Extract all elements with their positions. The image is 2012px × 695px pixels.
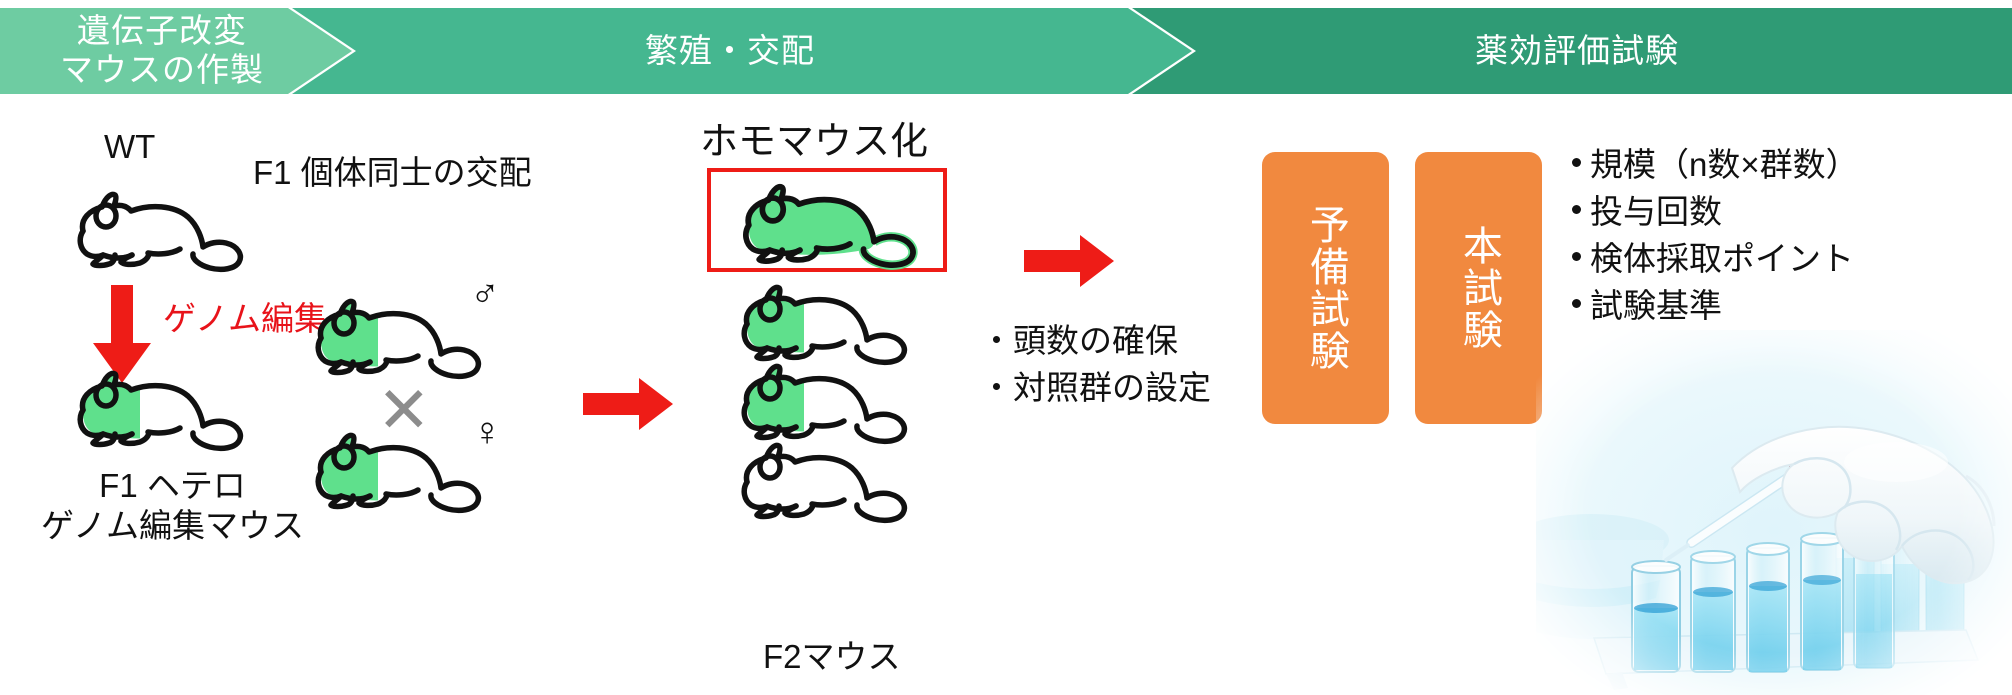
bullet-dot-icon [1572, 205, 1581, 214]
banner-step-1-line2: マウスの作製 [60, 51, 264, 90]
test-criteria-text: 規模（n数×群数） [1590, 142, 1859, 189]
wt-label: WT [104, 128, 155, 166]
breeding-note-item: 頭数の確保 [980, 318, 1211, 365]
breeding-notes-list: 頭数の確保 対照群の設定 [980, 318, 1211, 412]
bullet-dot-icon [1572, 252, 1581, 261]
banner-step-3[interactable]: 薬効評価試験 [1132, 8, 2012, 94]
breeding-note-item: 対照群の設定 [980, 365, 1211, 412]
mouse-f1-female [300, 424, 490, 516]
test-criteria-item: 規模（n数×群数） [1572, 142, 1859, 189]
cross-title: F1 個体同士の交配 [253, 146, 532, 194]
banner-step-1[interactable]: 遺伝子改変 マウスの作製 [0, 8, 352, 94]
right-arrow-red-icon-2 [1024, 235, 1114, 287]
f1-hetero-caption-line2: ゲノム編集マウス [0, 506, 345, 546]
preliminary-test-box[interactable]: 予備試験 [1262, 152, 1389, 424]
main-test-box[interactable]: 本試験 [1415, 152, 1542, 424]
male-symbol-icon: ♂ [470, 274, 500, 314]
bullet-dot-icon [1572, 299, 1581, 308]
banner-step-2[interactable]: 繁殖・交配 [292, 8, 1192, 94]
f1-hetero-caption: F1 ヘテロ ゲノム編集マウス [0, 466, 345, 547]
banner-step-3-label: 薬効評価試験 [1475, 32, 1679, 71]
banner-step-2-label: 繁殖・交配 [645, 32, 815, 71]
main-test-label: 本試験 [1452, 225, 1505, 351]
test-criteria-item: 試験基準 [1572, 283, 1859, 330]
f1-hetero-caption-line1: F1 ヘテロ [0, 466, 345, 506]
test-criteria-item: 投与回数 [1572, 189, 1859, 236]
female-symbol-icon: ♀ [472, 412, 502, 452]
mouse-f2-homozygous [726, 175, 926, 271]
f2-mouse-caption: F2マウス [763, 630, 901, 678]
homo-mouse-title: ホモマウス化 [700, 110, 928, 165]
banner-step-1-line1: 遺伝子改変 [60, 12, 264, 51]
banner-step-1-label: 遺伝子改変 マウスの作製 [60, 12, 264, 90]
test-criteria-text: 試験基準 [1590, 283, 1722, 330]
mouse-f2-wildtype [726, 434, 916, 526]
process-banner: 遺伝子改変 マウスの作製 繁殖・交配 薬効評価試験 [0, 8, 2012, 94]
test-criteria-item: 検体採取ポイント [1572, 236, 1859, 283]
test-criteria-text: 検体採取ポイント [1590, 236, 1854, 283]
test-criteria-text: 投与回数 [1590, 189, 1722, 236]
test-criteria-list: 規模（n数×群数） 投与回数 検体採取ポイント 試験基準 [1572, 142, 1859, 329]
mouse-wild-type [62, 183, 252, 275]
laboratory-photo [1536, 330, 2012, 695]
bullet-dot-icon [1572, 158, 1581, 167]
right-arrow-red-icon-1 [583, 378, 673, 430]
preliminary-test-label: 予備試験 [1299, 204, 1352, 372]
mouse-f1-heterozygous [62, 362, 252, 454]
mouse-f1-male [300, 290, 490, 382]
